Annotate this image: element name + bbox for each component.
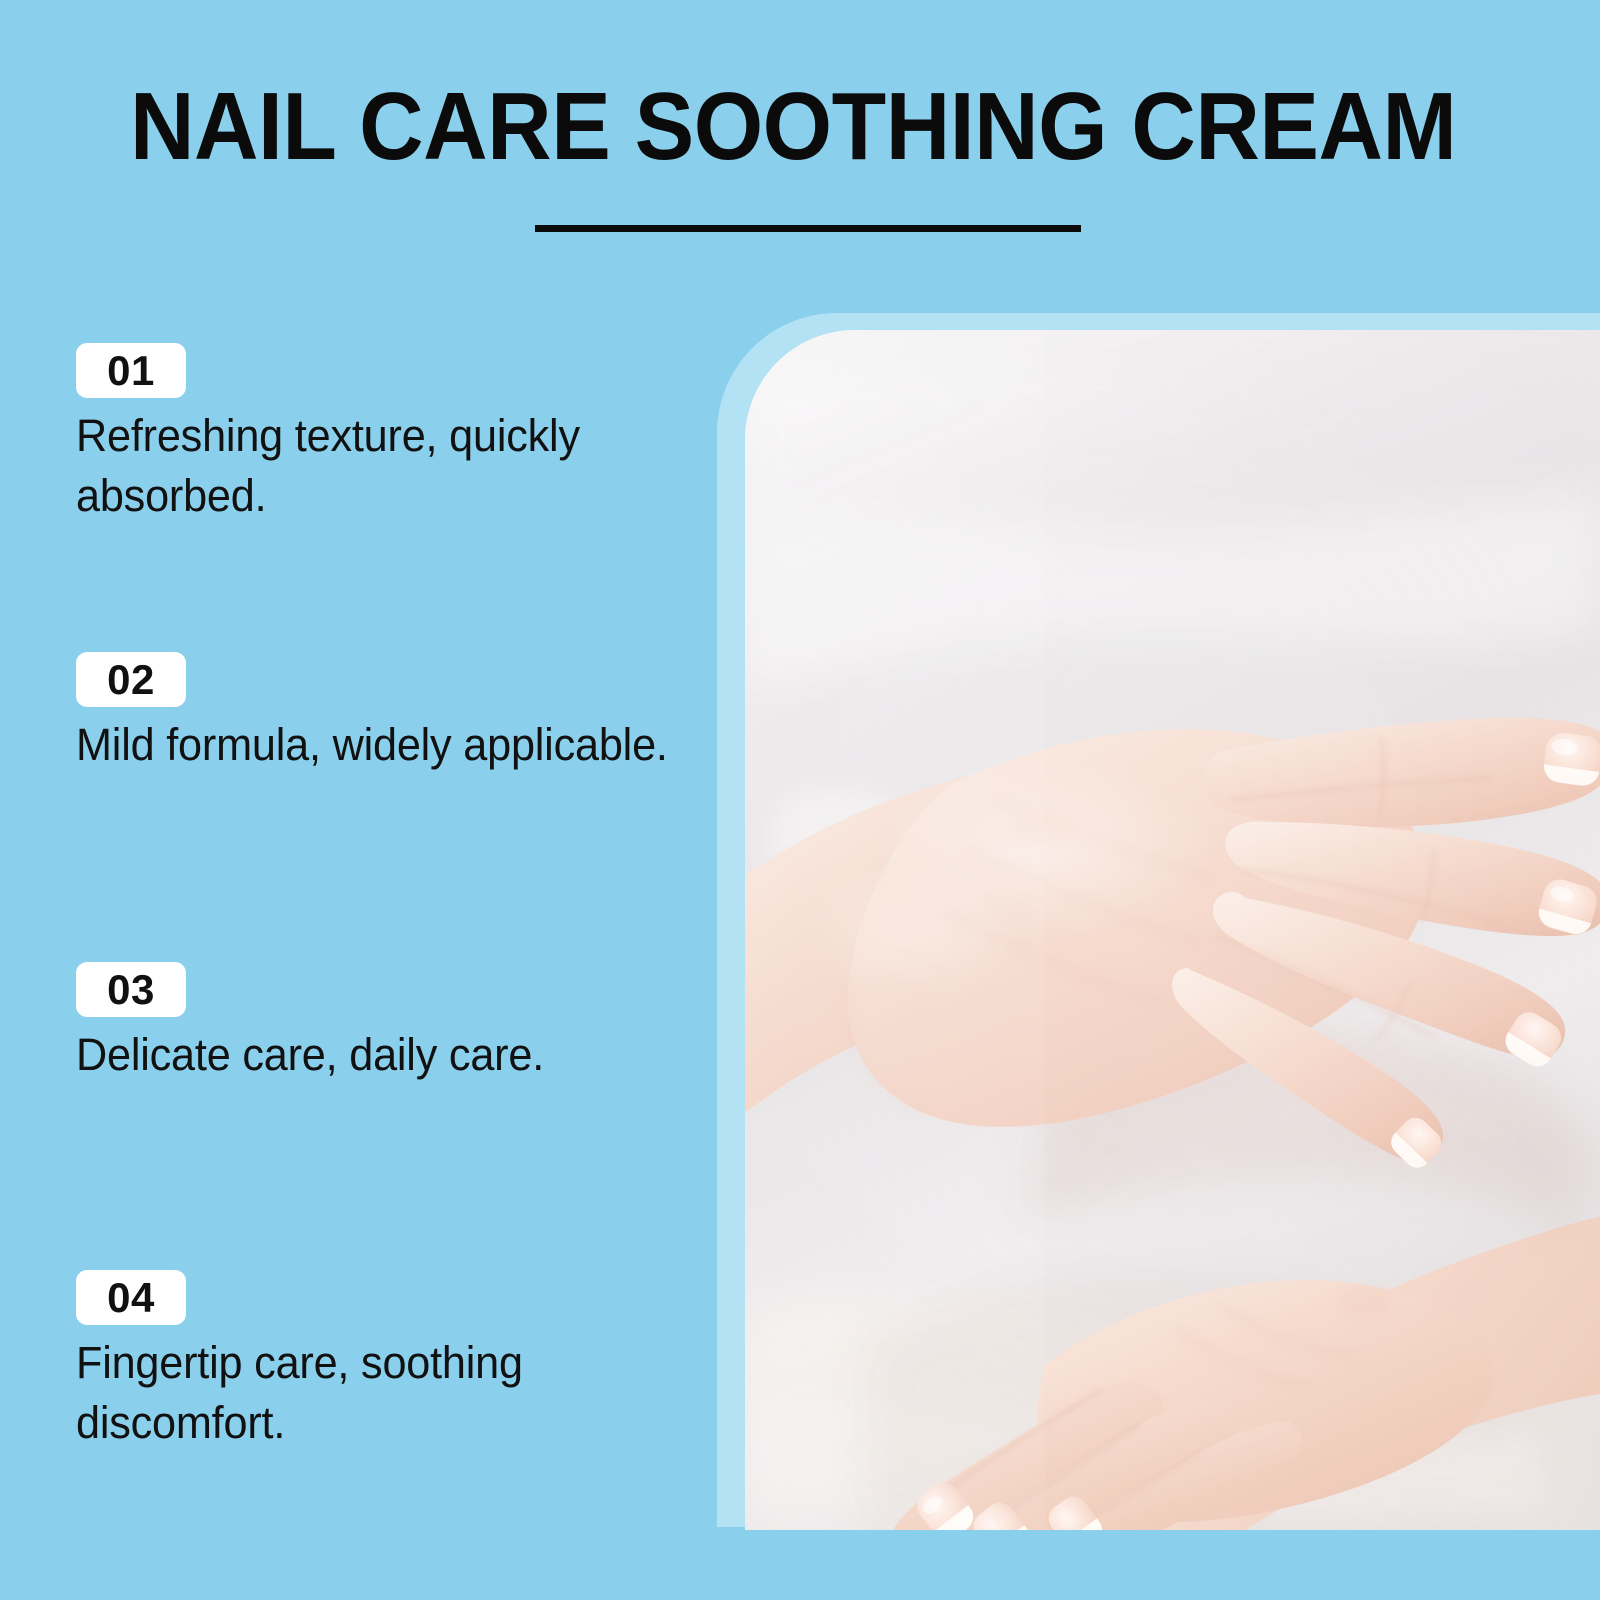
feature-description: Fingertip care, soothing discomfort. [76,1333,671,1453]
page-title: NAIL CARE SOOTHING CREAM [130,77,1432,177]
feature-description: Delicate care, daily care. [76,1025,671,1085]
feature-number-badge: 01 [76,343,186,398]
feature-number-badge: 04 [76,1270,186,1325]
feature-description: Refreshing texture, quickly absorbed. [76,406,671,526]
feature-number-badge: 03 [76,962,186,1017]
list-item: 03 Delicate care, daily care. [76,962,716,1085]
list-item: 02 Mild formula, widely applicable. [76,652,716,775]
feature-description: Mild formula, widely applicable. [76,715,671,775]
list-item: 01 Refreshing texture, quickly absorbed. [76,343,716,526]
title-divider [535,225,1081,232]
poster-canvas: NAIL CARE SOOTHING CREAM 01 Refreshing t… [0,0,1600,1600]
product-photo [745,330,1600,1530]
hands-photo-illustration [745,330,1600,1530]
list-item: 04 Fingertip care, soothing discomfort. [76,1270,716,1453]
feature-number-badge: 02 [76,652,186,707]
